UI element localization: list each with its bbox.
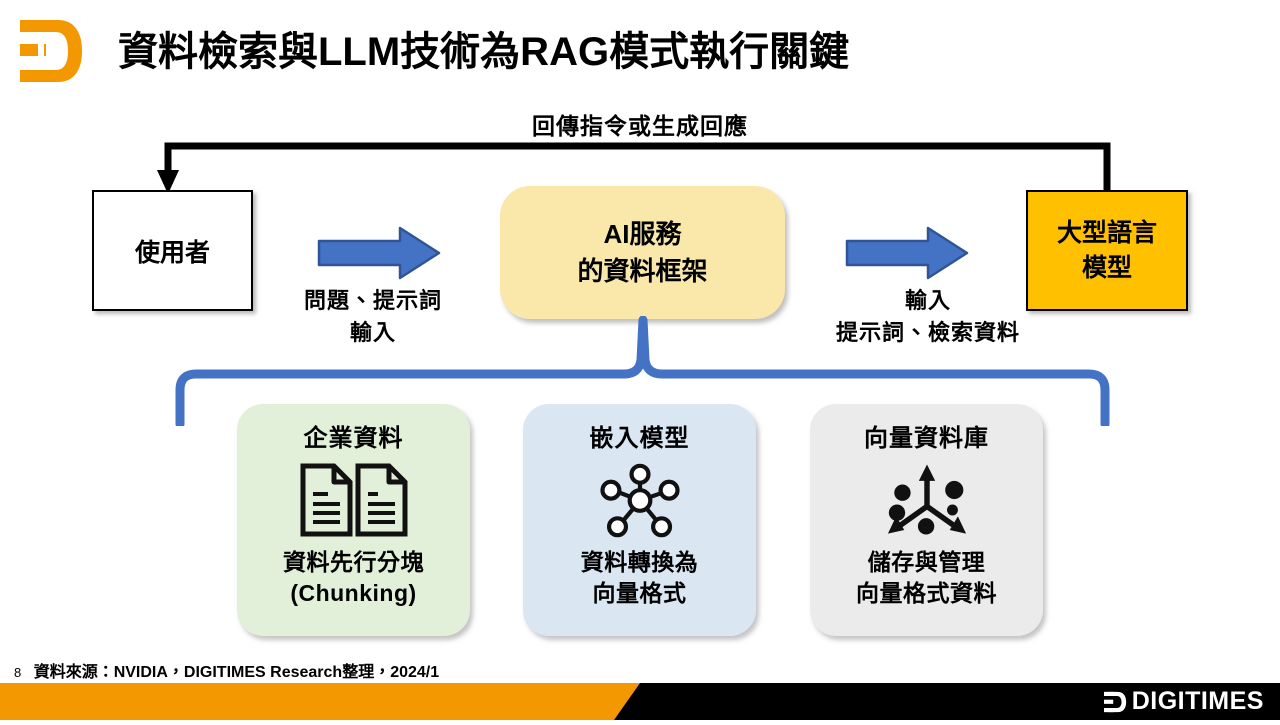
component-desc-2: 資料轉換為 向量格式 [581, 547, 699, 609]
footer-brand: DIGITIMES [1104, 689, 1264, 714]
digitimes-d-logo-icon [18, 16, 86, 86]
source-note-text: 資料來源：NVIDIA，DIGITIMES Research整理，2024/1 [34, 664, 439, 681]
component-card-embedding-model[interactable]: 嵌入模型 資料轉換為 向量格式 [523, 404, 756, 636]
component-card-enterprise-data[interactable]: 企業資料 資料先行分塊 (Chunking) [237, 404, 470, 636]
node-llm-line1: 大型語言 [1057, 216, 1157, 251]
component-card-vector-database[interactable]: 向量資料庫 儲存與管理 向量格式資料 [810, 404, 1043, 636]
component-desc-3-line1: 儲存與管理 [856, 547, 997, 578]
source-footnote: 8 資料來源：NVIDIA，DIGITIMES Research整理，2024/… [14, 658, 439, 682]
component-title-2: 嵌入模型 [590, 418, 690, 453]
arrow-caption-1-line1: 問題、提示詞 [258, 285, 488, 317]
documents-icon [298, 461, 410, 539]
component-desc-3-line2: 向量格式資料 [856, 578, 997, 609]
component-desc-2-line2: 向量格式 [581, 578, 699, 609]
page-title: 資料檢索與LLM技術為RAG模式執行關鍵 [118, 24, 849, 80]
blue-right-arrow-icon-2 [845, 225, 970, 286]
component-title-1: 企業資料 [304, 418, 404, 453]
node-user-label: 使用者 [135, 233, 210, 269]
network-nodes-icon [595, 461, 685, 539]
arrow-caption-2-line1: 輸入 [778, 285, 1078, 317]
vector-axes-icon [877, 461, 977, 539]
page-number: 8 [14, 665, 21, 680]
footer-brand-text: DIGITIMES [1132, 689, 1264, 714]
node-ai-framework-line2: 的資料框架 [577, 253, 707, 290]
node-llm-line2: 模型 [1082, 251, 1132, 286]
component-title-3: 向量資料庫 [864, 418, 989, 453]
node-ai-framework-line1: AI服務 [603, 216, 681, 253]
node-ai-framework[interactable]: AI服務 的資料框架 [500, 186, 785, 319]
node-user[interactable]: 使用者 [92, 190, 253, 311]
feedback-loop-label: 回傳指令或生成回應 [0, 107, 1280, 141]
blue-right-arrow-icon-1 [317, 225, 442, 286]
footer-bar [0, 683, 1280, 720]
component-desc-2-line1: 資料轉換為 [581, 547, 699, 578]
component-desc-1: 資料先行分塊 (Chunking) [283, 547, 424, 609]
component-desc-1-line1: 資料先行分塊 [283, 547, 424, 578]
component-desc-3: 儲存與管理 向量格式資料 [856, 547, 997, 609]
digitimes-d-logo-icon [1104, 690, 1128, 714]
component-desc-1-line2: (Chunking) [283, 578, 424, 609]
